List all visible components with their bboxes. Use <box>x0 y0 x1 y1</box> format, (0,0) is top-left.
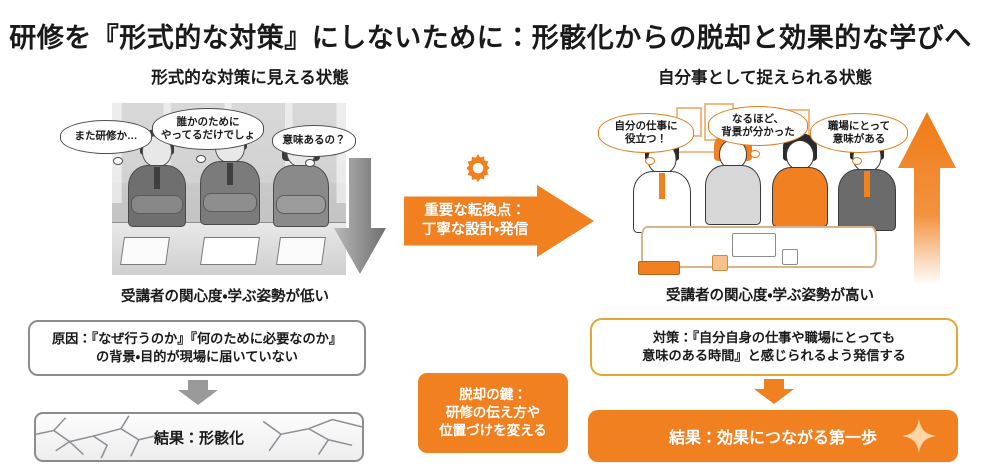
key-box: 脱却の鍵： 研修の伝え方や 位置づけを変える <box>418 373 568 453</box>
laptop <box>732 233 776 257</box>
arrow-down-icon <box>332 158 388 276</box>
arrow-down-small-icon <box>752 379 796 405</box>
page-title: 研修を『形式的な対策』にしないために：形骸化からの脱却と効果的な学びへ <box>0 16 981 55</box>
cause-box: 原因：『なぜ行うのか』『何のために必要なのか』 の背景・目的が現場に届いていない <box>28 320 366 376</box>
arrow-up-icon <box>896 110 958 285</box>
right-result-box: 結果：効果につながる第一歩 <box>588 410 958 462</box>
transition-arrow: 重要な転換点： 丁寧な設計・発信 <box>404 185 594 257</box>
coffee-cup <box>712 255 728 271</box>
speech-bubble-dot <box>305 159 315 167</box>
speech-bubble-right-1: 自分の仕事に 役立つ！ <box>598 113 694 153</box>
torso <box>772 167 828 227</box>
head <box>786 140 814 170</box>
transition-arrow-label: 重要な転換点： 丁寧な設計・発信 <box>410 202 540 240</box>
coffee-cup <box>782 249 798 265</box>
open-book <box>200 237 260 265</box>
left-result-label: 結果：形骸化 <box>154 427 244 448</box>
speech-bubble-right-3: 職場にとって 意味がある <box>810 113 908 153</box>
speech-bubble-dot <box>852 157 862 165</box>
speech-bubble-dot <box>645 157 655 165</box>
left-scene-caption: 受講者の関心度・学ぶ姿勢が低い <box>80 285 370 306</box>
paper-document <box>120 237 170 265</box>
necktie <box>864 171 870 197</box>
paper-document <box>276 237 326 265</box>
crossed-arms <box>203 193 257 212</box>
right-scene-caption: 受講者の関心度・学ぶ姿勢が高い <box>600 284 940 305</box>
speech-bubble-left-3: 意味あるの？ <box>272 125 356 157</box>
notebook <box>638 261 680 275</box>
speech-bubble-dot <box>196 155 206 163</box>
necktie <box>659 173 665 199</box>
right-result-label: 結果：効果につながる第一歩 <box>669 424 877 448</box>
left-result-box: 結果：形骸化 <box>34 412 364 462</box>
crossed-arms <box>131 195 183 214</box>
necktie <box>154 167 160 189</box>
gear-icon <box>461 152 495 186</box>
speech-bubble-left-2: 誰かのために やってるだけでしょ <box>152 108 264 150</box>
measure-box: 対策：『自分自身の仕事や職場にとっても 意味のある時間』と感じられるよう発信する <box>590 318 958 376</box>
left-column-subtitle: 形式的な対策に見える状態 <box>105 64 395 88</box>
speech-bubble-right-2: なるほど、 背景が分かった <box>708 106 808 146</box>
speech-bubble-dot <box>750 150 760 158</box>
right-column-subtitle: 自分事として捉えられる状態 <box>600 64 930 88</box>
infographic-canvas: 研修を『形式的な対策』にしないために：形骸化からの脱却と効果的な学びへ 形式的な… <box>0 0 981 476</box>
speech-bubble-dot <box>113 157 123 165</box>
arrow-down-small-icon <box>176 380 220 406</box>
speech-bubble-left-1: また研修か… <box>60 120 152 154</box>
sparkle-icon <box>902 419 936 453</box>
torso <box>705 165 761 225</box>
crossed-arms <box>276 195 326 214</box>
necktie <box>227 163 233 185</box>
